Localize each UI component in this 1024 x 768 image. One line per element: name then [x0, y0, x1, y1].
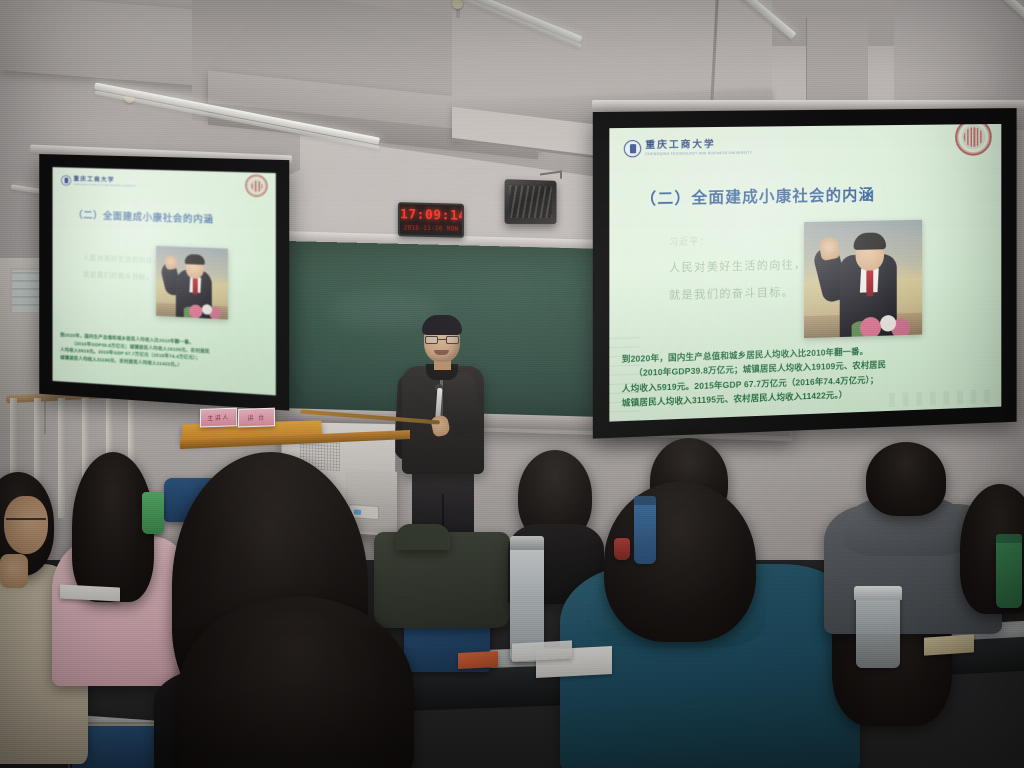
photo-waving-hand	[164, 255, 178, 270]
eyeglasses-icon	[6, 518, 46, 529]
university-crest-icon	[624, 140, 641, 158]
slide-quote-line-1: 人民对美好生活的向往，	[669, 256, 807, 275]
clock-date-display: 2018-11-26 MON	[400, 224, 462, 233]
backpack-olive-strap	[396, 524, 450, 550]
photo-flowers	[852, 311, 915, 338]
photo-hair	[185, 254, 205, 265]
seal-inner-ring	[251, 180, 262, 192]
water-bottle-blue	[634, 502, 656, 564]
student-pink-jacket	[56, 452, 182, 682]
photo-necktie	[193, 278, 198, 294]
lectern-namecard-1: 主讲人	[200, 408, 237, 428]
water-bottle-green	[996, 540, 1022, 608]
university-crest-icon	[61, 175, 71, 186]
slide-quote-line-2: 就是我们的奋斗目标。	[83, 268, 160, 281]
student-hand	[0, 554, 28, 588]
slide-quote-attribution: 习近平：	[669, 232, 807, 248]
led-wall-clock: 17:09:14 2018-11-26 MON	[398, 202, 464, 238]
slide-seal-icon	[245, 174, 267, 197]
university-name-cn: 重庆工商大学	[645, 140, 752, 151]
thermos-steel	[856, 592, 900, 668]
slide-quote-block: 人民对美好生活的向往， 就是我们的奋斗目标。	[83, 252, 160, 282]
slide-body-text: 到2020年，国内生产总值和城乡居民人均收入比2010年翻一番。 （2010年G…	[60, 332, 265, 372]
student-foreground-longhair	[178, 596, 414, 768]
slide-seal-icon	[955, 124, 992, 156]
slide-surface-left: 重庆工商大学 CHONGQING TECHNOLOGY AND BUSINESS…	[53, 167, 276, 395]
wall-speaker	[505, 179, 557, 224]
slide-quote-line-1: 人民对美好生活的向往，	[83, 252, 160, 265]
student-hair	[604, 482, 756, 642]
slide-quote-line-2: 就是我们的奋斗目标。	[669, 283, 807, 303]
university-name-en: CHONGQING TECHNOLOGY AND BUSINESS UNIVER…	[74, 183, 137, 187]
student-teal-hoodie	[560, 482, 860, 768]
lectern-namecard-2: 讲 台	[238, 408, 275, 428]
presenter-hair	[422, 315, 462, 335]
slide-photo	[804, 220, 922, 338]
university-name-en: CHONGQING TECHNOLOGY AND BUSINESS UNIVER…	[645, 151, 752, 156]
water-bottle-red	[614, 538, 630, 560]
photo-hair	[854, 232, 886, 250]
student-hair	[866, 442, 946, 516]
seal-inner-ring	[964, 127, 983, 147]
bottle-cap-blue	[634, 496, 656, 505]
namecard-2-text: 讲 台	[247, 413, 265, 422]
thermos-cap	[854, 586, 902, 600]
projection-screen-right: 重庆工商大学 CHONGQING TECHNOLOGY AND BUSINESS…	[593, 108, 1017, 439]
slide-university-logo: 重庆工商大学 CHONGQING TECHNOLOGY AND BUSINESS…	[61, 175, 137, 188]
slide-photo	[156, 246, 228, 320]
notebook-beige	[924, 634, 974, 655]
slide-surface-right: 重庆工商大学 CHONGQING TECHNOLOGY AND BUSINESS…	[609, 124, 1001, 422]
speaker-grille	[510, 185, 552, 218]
bottle-cap-steel	[510, 536, 544, 550]
namecard-1-text: 主讲人	[207, 413, 230, 423]
slide-title: （二）全面建成小康社会的内涵	[640, 183, 875, 209]
slide-quote-block: 习近平： 人民对美好生活的向往， 就是我们的奋斗目标。	[669, 232, 807, 303]
projection-screen-left: 重庆工商大学 CHONGQING TECHNOLOGY AND BUSINESS…	[39, 154, 289, 411]
water-bottle-green	[142, 492, 164, 534]
classroom-photo-scene: 17:09:14 2018-11-26 MON 重庆工商大学 CHONGQING…	[0, 0, 1024, 768]
photo-necktie	[866, 270, 873, 296]
paper-stack	[512, 640, 572, 661]
slide-title: （二）全面建成小康社会的内涵	[73, 207, 213, 226]
eyeglasses-icon	[425, 336, 459, 344]
notebook-orange	[458, 651, 498, 669]
photo-waving-hand	[818, 236, 840, 261]
slide-university-logo: 重庆工商大学 CHONGQING TECHNOLOGY AND BUSINESS…	[624, 139, 752, 158]
photo-flowers	[184, 301, 224, 319]
student-hair	[178, 596, 414, 768]
bottle-cap-green	[996, 534, 1022, 543]
clock-time-display: 17:09:14	[400, 207, 462, 224]
